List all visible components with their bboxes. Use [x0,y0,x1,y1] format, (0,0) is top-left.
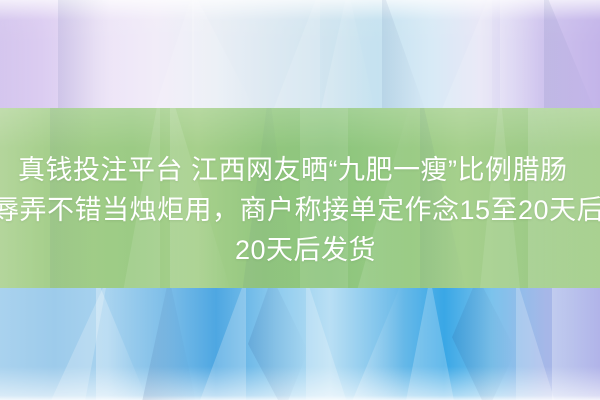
facet-shape [306,288,350,400]
facet-shape [318,0,378,112]
facet-shape [436,0,492,112]
facet-shape [140,288,198,400]
background-band-bottom [0,288,600,400]
facet-shape [544,0,600,112]
facet-shape [96,288,152,400]
headline-text: 真钱投注平台 江西网友晒“九肥一瘦”比例腊肠 辱弄不错当烛炬用，商户称接单定作念… [18,150,600,270]
banner-image: 真钱投注平台 江西网友晒“九肥一瘦”比例腊肠 辱弄不错当烛炬用，商户称接单定作念… [0,0,600,400]
facet-shape [58,0,110,112]
facet-shape [452,288,516,400]
facet-shape [150,0,194,112]
facet-shape [46,288,108,400]
facet-shape [196,288,246,400]
facet-shape [268,0,320,112]
facet-shape [404,288,456,400]
facet-shape [0,0,64,112]
facet-pattern-bottom [0,288,600,400]
background-band-top [0,0,600,112]
headline-line-3: 20天后发货 [235,230,600,270]
facet-shape [516,288,558,400]
facet-shape [382,0,430,112]
facet-shape [348,288,404,400]
facet-shape [552,288,600,400]
facet-shape [192,0,262,112]
facet-shape [500,0,546,112]
headline-line-1: 真钱投注平台 江西网友晒“九肥一瘦”比例腊肠 [18,150,600,190]
facet-shape [248,288,308,400]
headline-line-2: 辱弄不错当烛炬用，商户称接单定作念15至20天后 [0,190,600,230]
facet-pattern-top [0,0,600,112]
